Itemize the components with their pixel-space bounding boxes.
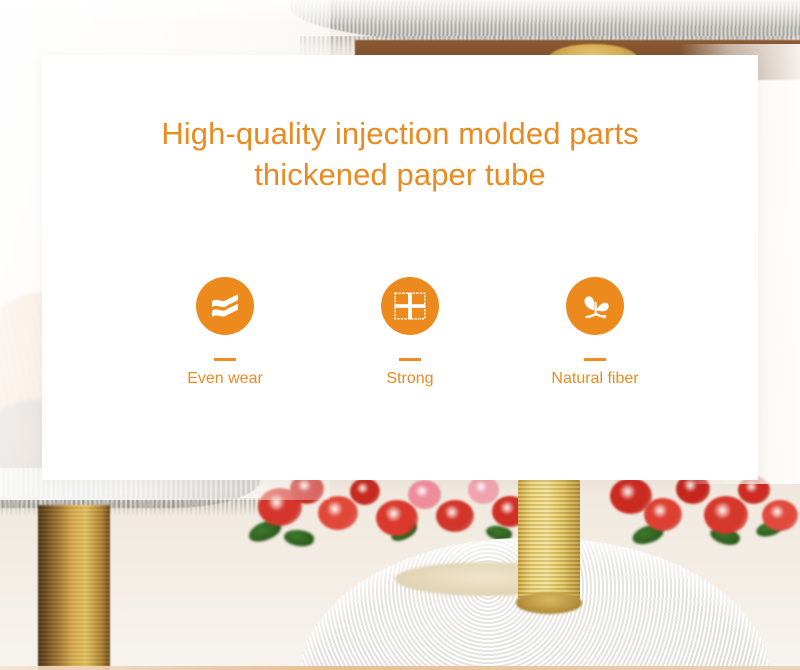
bottom-accent-line (0, 666, 800, 670)
silk-flower (408, 480, 441, 509)
silk-flower (644, 498, 682, 531)
sisal-post-left (38, 505, 110, 670)
silk-flower (762, 500, 798, 531)
feature-badge (196, 277, 254, 335)
sisal-post-center-base (516, 592, 582, 614)
feature-label: Strong (386, 370, 433, 388)
silk-flower (468, 476, 499, 504)
sisal-post-center (518, 478, 580, 608)
feature-item[interactable]: Even wear (150, 277, 300, 388)
photo-highlight-top (0, 0, 800, 26)
banner-stage: High-quality injection molded parts thic… (0, 0, 800, 670)
content-card: High-quality injection molded parts thic… (42, 55, 758, 480)
feature-badge (381, 277, 439, 335)
feature-divider (399, 358, 421, 361)
feature-list: Even wear Strong Natural fiber (150, 277, 670, 388)
page-title: High-quality injection molded parts thic… (42, 113, 758, 195)
feature-label: Natural fiber (551, 370, 638, 388)
silk-leaf (283, 527, 316, 549)
feature-divider (214, 358, 236, 361)
feature-item[interactable]: Natural fiber (520, 277, 670, 388)
feature-item[interactable]: Strong (335, 277, 485, 388)
sprout-leaf-icon (578, 290, 612, 322)
wavy-stripes-icon (208, 289, 242, 323)
silk-flower (436, 500, 474, 532)
feature-divider (584, 358, 606, 361)
silk-flower (318, 496, 358, 530)
silk-flower (704, 496, 748, 534)
silk-flower (376, 500, 418, 536)
feature-badge (566, 277, 624, 335)
feature-label: Even wear (187, 370, 263, 388)
silk-flower (350, 478, 380, 505)
grid-panes-icon (393, 291, 427, 321)
